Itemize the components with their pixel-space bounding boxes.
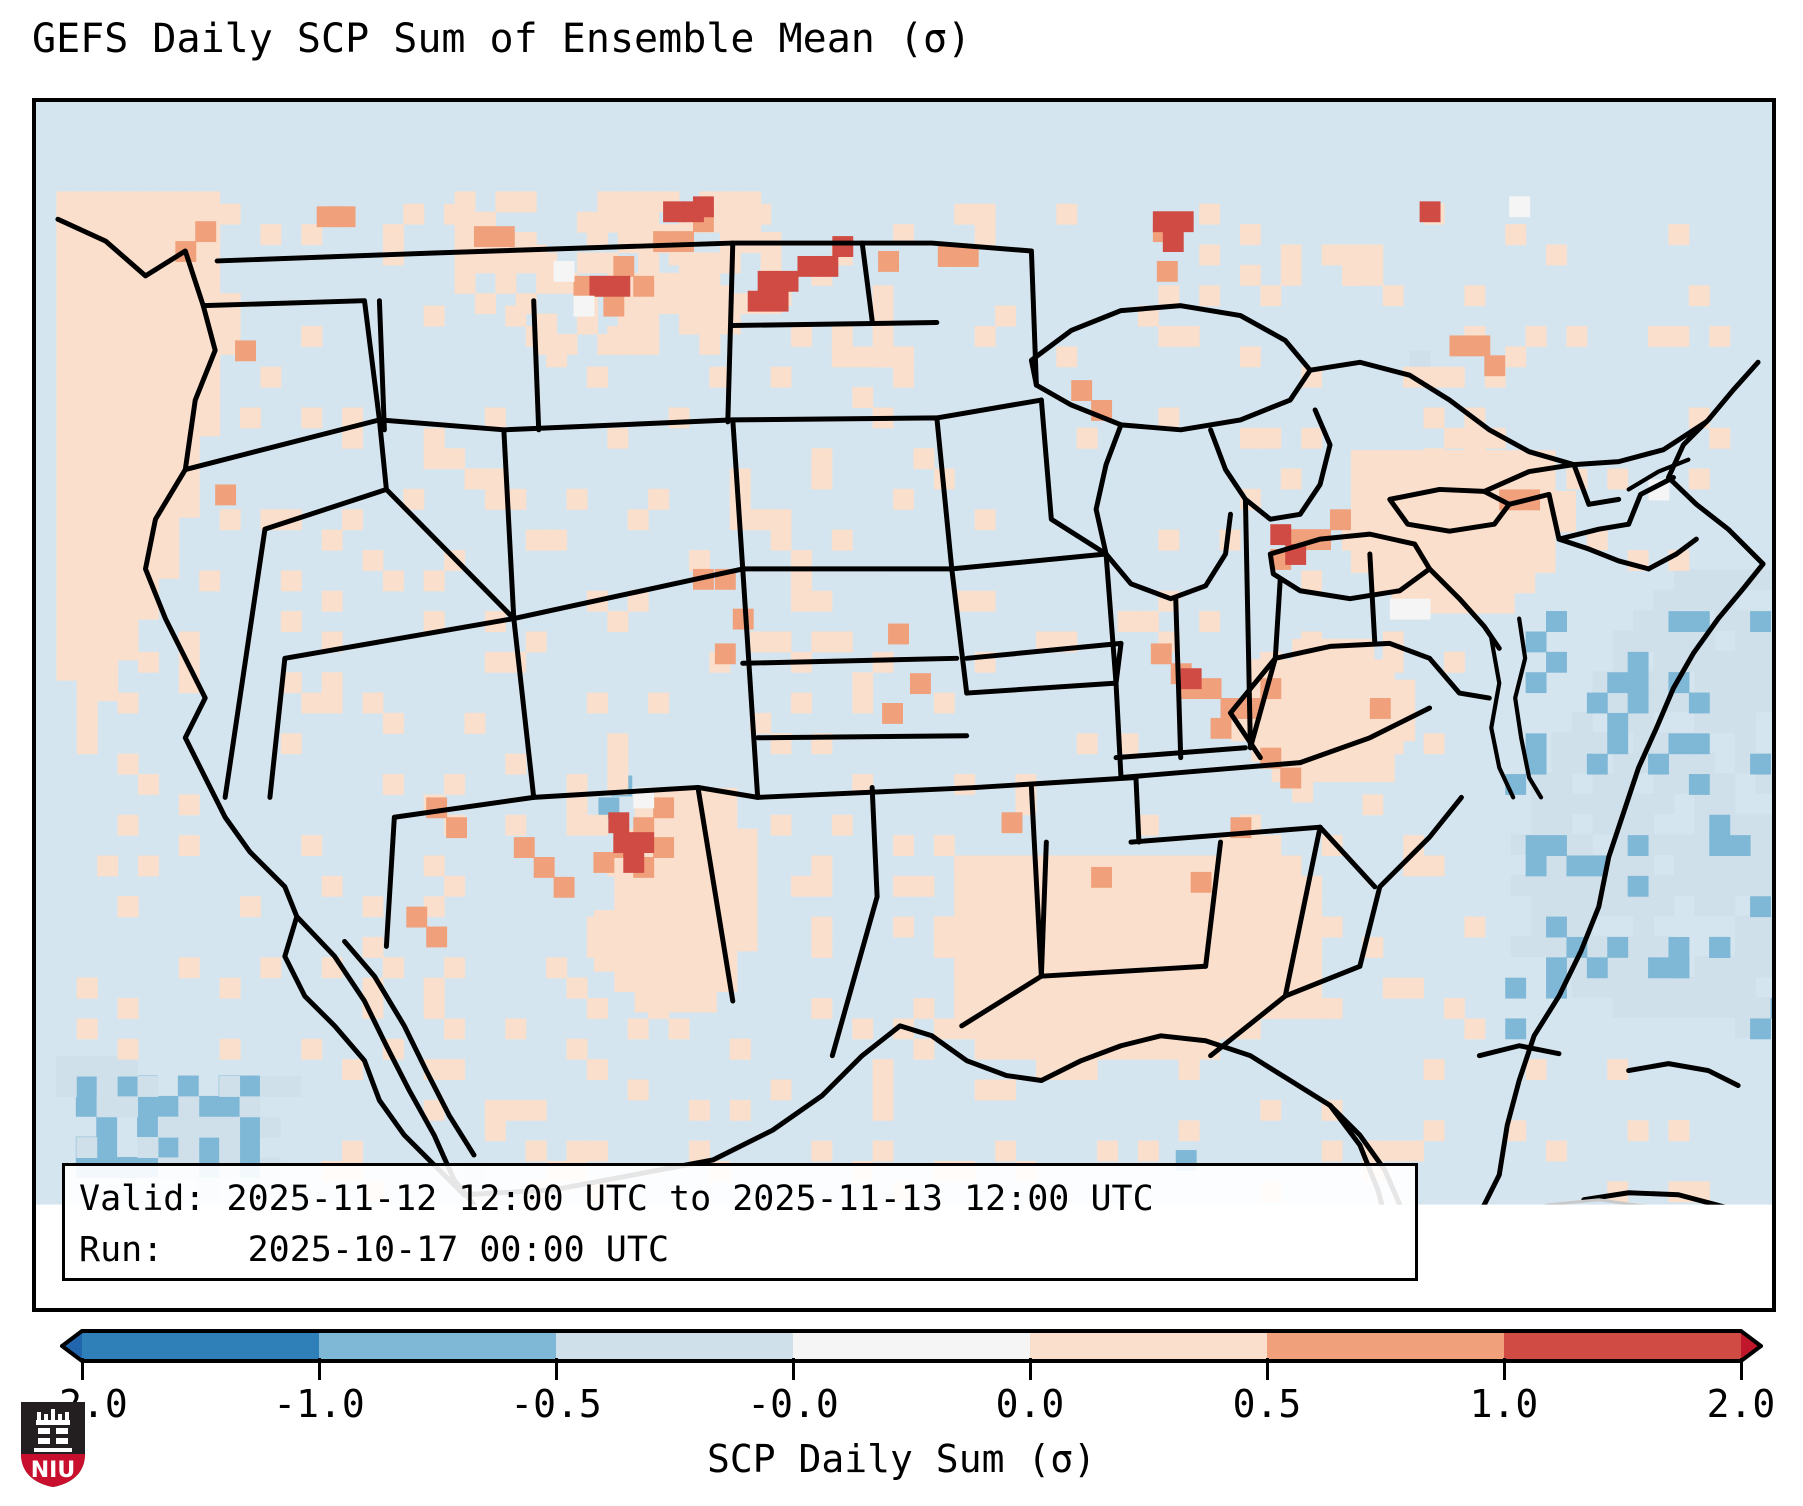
- niu-logo: NIU: [18, 1398, 88, 1490]
- colorbar-tick: [1266, 1358, 1269, 1380]
- colorbar-tick-label: 1.0: [1470, 1382, 1539, 1426]
- colorbar-tick-labels: -2.0-1.0-0.5-0.00.00.51.02.0: [0, 1382, 1803, 1428]
- colorbar-tick: [792, 1358, 795, 1380]
- colorbar-tick-label: 0.5: [1233, 1382, 1302, 1426]
- colorbar-tick: [318, 1358, 321, 1380]
- map-plot-area: [32, 98, 1776, 1312]
- scp-anomaly-map: [36, 102, 1772, 1308]
- colorbar-tick: [555, 1358, 558, 1380]
- colorbar-tick-label: -1.0: [273, 1382, 365, 1426]
- valid-time-line: Valid: 2025-11-12 12:00 UTC to 2025-11-1…: [79, 1174, 1401, 1225]
- colorbar-tick: [1029, 1358, 1032, 1380]
- colorbar-tick-label: 2.0: [1707, 1382, 1776, 1426]
- colorbar-tick: [1503, 1358, 1506, 1380]
- colorbar-tick: [1740, 1358, 1743, 1380]
- colorbar-tick: [81, 1358, 84, 1380]
- colorbar-axis-label: SCP Daily Sum (σ): [0, 1437, 1803, 1481]
- valid-run-info-box: Valid: 2025-11-12 12:00 UTC to 2025-11-1…: [62, 1163, 1418, 1281]
- page-title: GEFS Daily SCP Sum of Ensemble Mean (σ): [32, 16, 971, 62]
- run-time-line: Run: 2025-10-17 00:00 UTC: [79, 1225, 1401, 1276]
- colorbar-tick-label: 0.0: [996, 1382, 1065, 1426]
- niu-logo-text: NIU: [31, 1458, 75, 1483]
- colorbar-tick-label: -0.5: [510, 1382, 602, 1426]
- colorbar-tick-label: -0.0: [747, 1382, 839, 1426]
